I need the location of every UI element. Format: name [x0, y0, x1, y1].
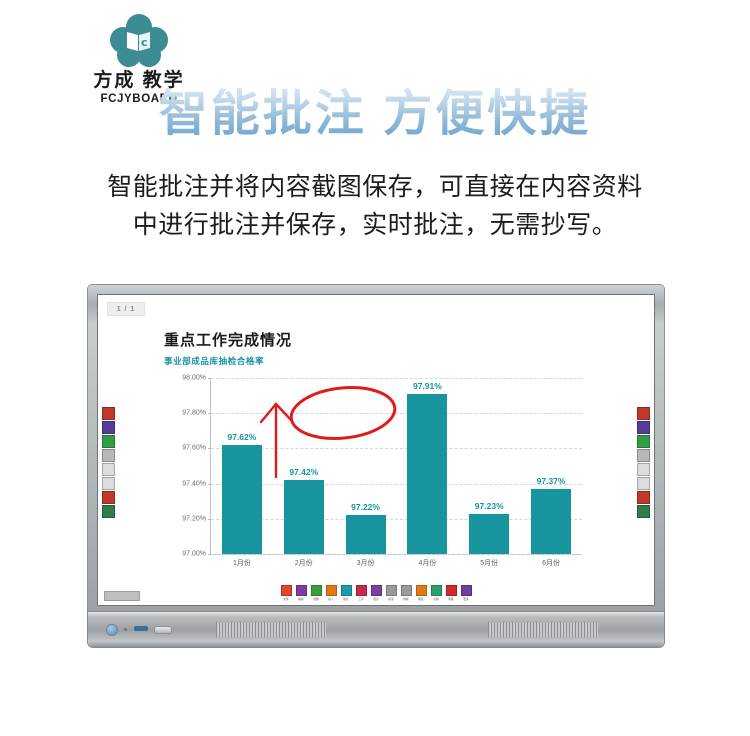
page-headline: 智能批注 方便快捷 [0, 86, 750, 142]
redo-tool-icon[interactable] [102, 477, 115, 490]
y-axis-tick-label: 97.80% [182, 410, 206, 417]
y-axis-tick-label: 98.00% [182, 375, 206, 382]
toolbar-item-label: 文件 [283, 597, 288, 601]
bar-value-label: 97.62% [227, 432, 256, 442]
device-base-bar [88, 612, 664, 647]
file-button[interactable]: 文件 [280, 585, 292, 601]
description-line-2: 中进行批注并保存，实时批注，无需抄写。 [40, 206, 710, 244]
save-tool-icon[interactable] [637, 491, 650, 504]
x-axis-tick-label: 5月份 [480, 558, 498, 568]
save-tool-icon[interactable] [102, 491, 115, 504]
input-select-button[interactable] [134, 626, 148, 631]
x-axis-tick-label: 6月份 [542, 558, 560, 568]
align-button[interactable]: 段落 [385, 585, 397, 601]
toolbar-item-label: 格式 [343, 597, 348, 601]
chart-title: 重点工作完成情况 [164, 329, 584, 350]
help-icon[interactable] [446, 585, 457, 596]
more-button[interactable]: 更多 [460, 585, 472, 601]
brush-tool-icon[interactable] [102, 435, 115, 448]
chart-bar [531, 489, 571, 554]
palette-tool-icon[interactable] [102, 505, 115, 518]
bar-value-label: 97.91% [413, 381, 442, 391]
pen-tool-icon[interactable] [102, 407, 115, 420]
y-axis-tick-label: 97.60% [182, 445, 206, 452]
chart-bar-group: 97.23%5月份 [458, 378, 520, 554]
palette-tool-icon[interactable] [637, 505, 650, 518]
speaker-grille-right [488, 623, 598, 637]
format-icon[interactable] [341, 585, 352, 596]
toolbar-item-label: 工具 [358, 597, 363, 601]
svg-text:c: c [141, 36, 148, 49]
x-axis-tick-label: 3月份 [357, 558, 375, 568]
toolbar-item-label: 表格 [433, 597, 438, 601]
y-axis-tick-label: 97.40% [182, 480, 206, 487]
undo-tool-icon[interactable] [637, 463, 650, 476]
tools-button[interactable]: 工具 [355, 585, 367, 601]
flower-book-logo-icon: c [110, 14, 168, 70]
brush-tool-icon[interactable] [637, 435, 650, 448]
speaker-grille-left [216, 623, 326, 637]
insert-button[interactable]: 插入 [325, 585, 337, 601]
bar-value-label: 97.42% [289, 467, 318, 477]
chart-plot-area: 98.00%97.80%97.60%97.40%97.20%97.00% 97.… [164, 378, 584, 573]
toolbar-item-label: 编辑 [298, 597, 303, 601]
status-led-icon [124, 628, 127, 631]
chart-container: 重点工作完成情况 事业部成品库抽检合格率 98.00%97.80%97.60%9… [164, 329, 584, 579]
y-axis-tick-label: 97.20% [182, 515, 206, 522]
chart-bars: 97.62%1月份97.42%2月份97.22%3月份97.91%4月份97.2… [211, 378, 582, 554]
description-line-1: 智能批注并将内容截图保存，可直接在内容资料 [40, 168, 710, 206]
chart-bar [407, 394, 447, 554]
y-axis-tick-label: 97.00% [182, 551, 206, 558]
eraser-tool-icon[interactable] [637, 449, 650, 462]
view-button[interactable]: 视图 [310, 585, 322, 601]
chart-bar [284, 480, 324, 554]
toolbar-item-label: 帮助 [448, 597, 453, 601]
page-description: 智能批注并将内容截图保存，可直接在内容资料 中进行批注并保存，实时批注，无需抄写… [40, 168, 710, 244]
table-icon[interactable] [431, 585, 442, 596]
power-button-icon[interactable] [106, 624, 118, 636]
device-bezel: 1 / 1 重点工作完成情况 事业部成品库抽检合格率 98.00%97.80%9… [88, 285, 664, 612]
chart-bar [469, 514, 509, 554]
toolbar-item-label: 图表 [418, 597, 423, 601]
taskbar-chip[interactable] [104, 591, 140, 601]
bar-value-label: 97.22% [351, 502, 380, 512]
y-axis-tick-mark [208, 554, 211, 555]
toolbar-item-label: 排版 [403, 597, 408, 601]
spacing-button[interactable]: 排版 [400, 585, 412, 601]
chart-axes: 98.00%97.80%97.60%97.40%97.20%97.00% 97.… [210, 378, 582, 555]
chart-icon[interactable] [416, 585, 427, 596]
chart-bar-group: 97.22%3月份 [335, 378, 397, 554]
insert-icon[interactable] [326, 585, 337, 596]
view-icon[interactable] [311, 585, 322, 596]
edit-button[interactable]: 编辑 [295, 585, 307, 601]
left-tool-palette[interactable] [102, 407, 115, 518]
toolbar-item-label: 插入 [328, 597, 333, 601]
chart-bar [346, 515, 386, 554]
file-icon[interactable] [281, 585, 292, 596]
chart-bar-group: 97.37%6月份 [520, 378, 582, 554]
annotate-button[interactable]: 批注 [370, 585, 382, 601]
table-button[interactable]: 表格 [430, 585, 442, 601]
align-icon[interactable] [386, 585, 397, 596]
chart-bar-group: 97.62%1月份 [211, 378, 273, 554]
chart-button[interactable]: 图表 [415, 585, 427, 601]
gridline [211, 554, 582, 555]
interactive-whiteboard-device: 1 / 1 重点工作完成情况 事业部成品库抽检合格率 98.00%97.80%9… [88, 285, 664, 647]
bar-value-label: 97.23% [475, 501, 504, 511]
toolbar-item-label: 更多 [463, 597, 468, 601]
highlighter-tool-icon[interactable] [637, 421, 650, 434]
chart-bar-group: 97.91%4月份 [396, 378, 458, 554]
edit-icon[interactable] [296, 585, 307, 596]
right-tool-palette[interactable] [637, 407, 650, 518]
more-icon[interactable] [461, 585, 472, 596]
chart-subtitle: 事业部成品库抽检合格率 [164, 355, 584, 367]
highlighter-tool-icon[interactable] [102, 421, 115, 434]
tools-icon[interactable] [356, 585, 367, 596]
bar-value-label: 97.37% [537, 476, 566, 486]
undo-tool-icon[interactable] [102, 463, 115, 476]
help-button[interactable]: 帮助 [445, 585, 457, 601]
format-button[interactable]: 格式 [340, 585, 352, 601]
x-axis-tick-label: 2月份 [295, 558, 313, 568]
bottom-toolbar[interactable]: 文件编辑视图插入格式工具批注段落排版图表表格帮助更多 [280, 585, 472, 601]
redo-tool-icon[interactable] [637, 477, 650, 490]
annotate-icon[interactable] [371, 585, 382, 596]
toolbar-item-label: 批注 [373, 597, 378, 601]
book-glyph-icon: c [123, 26, 155, 54]
chart-bar-group: 97.42%2月份 [273, 378, 335, 554]
device-screen[interactable]: 1 / 1 重点工作完成情况 事业部成品库抽检合格率 98.00%97.80%9… [97, 294, 655, 606]
spacing-icon[interactable] [401, 585, 412, 596]
pen-tool-icon[interactable] [637, 407, 650, 420]
x-axis-tick-label: 1月份 [233, 558, 251, 568]
x-axis-tick-label: 4月份 [418, 558, 436, 568]
eraser-tool-icon[interactable] [102, 449, 115, 462]
page-indicator: 1 / 1 [107, 302, 145, 316]
chart-bar [222, 445, 262, 554]
menu-button[interactable] [154, 626, 172, 634]
toolbar-item-label: 视图 [313, 597, 318, 601]
toolbar-item-label: 段落 [388, 597, 393, 601]
